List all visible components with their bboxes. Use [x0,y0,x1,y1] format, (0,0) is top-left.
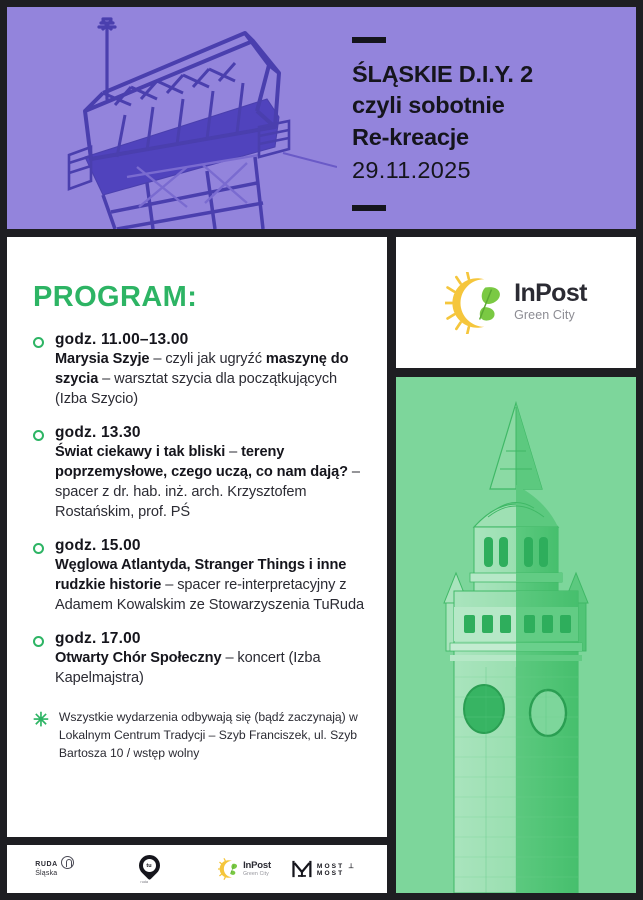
footnote-text: Wszystkie wydarzenia odbywają się (bądź … [59,709,367,763]
entry-description: Świat ciekawy i tak bliski – tereny popr… [55,443,367,523]
bullet-circle-icon [33,430,44,441]
logo-most-most: MOST ⊥ MOST [292,845,387,893]
headframe-photo [7,7,337,229]
title-line-2: czyli sobotnie [352,92,505,118]
title-line-3: Re-kreacje [352,124,469,150]
inpost-subtitle: Green City [514,306,587,325]
header-banner: ŚLĄSKIE D.I.Y. 2 czyli sobotnie Re-kreac… [7,7,636,229]
ruda-line-1: RUDA [35,860,58,869]
bullet-circle-icon [33,337,44,348]
inpost-sun-leaf-icon [218,858,240,880]
event-date: 29.11.2025 [352,153,636,186]
program-entry: godz. 15.00 Węglowa Atlantyda, Stranger … [33,537,367,616]
logo-turuda: tu ruda [102,845,197,893]
logo-inpost-small: InPost Green City [197,845,292,893]
entry-time: godz. 13.30 [55,424,367,442]
title-line-1: ŚLĄSKIE D.I.Y. 2 [352,61,533,87]
program-panel: PROGRAM: godz. 11.00–13.00 Marysia Szyje… [7,237,387,837]
entry-description: Otwarty Chór Społeczny – koncert (Izba K… [55,649,367,689]
rule-bottom-icon [352,205,386,211]
sponsor-logo-bar: RUDA Śląska tu ruda [7,845,387,893]
pin-caption: ruda [141,880,149,884]
inpost-sun-leaf-icon [445,272,507,334]
entry-time: godz. 15.00 [55,537,367,555]
page-title: ŚLĄSKIE D.I.Y. 2 czyli sobotnie Re-kreac… [352,59,636,186]
program-entry: godz. 11.00–13.00 Marysia Szyje – czyli … [33,331,367,410]
inpost-small-name: InPost [243,861,271,871]
entry-rest: – warsztat szycia dla początkujących (Iz… [55,371,337,407]
inpost-name: InPost [514,281,587,306]
entry-description: Węglowa Atlantyda, Stranger Things i inn… [55,556,367,616]
entry-bold-1: Marysia Szyje [55,351,149,367]
entry-mid-1: – [225,444,241,460]
bullet-circle-icon [33,543,44,554]
bullet-circle-icon [33,636,44,647]
program-entry: godz. 17.00 Otwarty Chór Społeczny – kon… [33,630,367,689]
most-most-text: MOST ⊥ MOST [317,862,387,877]
entry-time: godz. 17.00 [55,630,367,648]
inpost-small-sub: Green City [243,871,271,878]
footnote: ✳ Wszystkie wydarzenia odbywają się (bąd… [33,709,367,763]
entry-mid-1: – czyli jak ugryźć [149,351,265,367]
poster-root: ŚLĄSKIE D.I.Y. 2 czyli sobotnie Re-kreac… [0,0,643,900]
most-monogram-icon [292,860,312,878]
logo-ruda-slaska: RUDA Śląska [7,845,102,893]
entry-bold-1: Świat ciekawy i tak bliski [55,444,225,460]
entry-description: Marysia Szyje – czyli jak ugryźć maszynę… [55,350,367,410]
rule-top-icon [352,37,386,43]
water-tower-photo [396,377,636,893]
ruda-line-2: Śląska [35,869,58,878]
program-entry: godz. 13.30 Świat ciekawy i tak bliski –… [33,424,367,523]
entry-time: godz. 11.00–13.00 [55,331,367,349]
asterisk-icon: ✳ [33,711,49,763]
entry-bold-1: Otwarty Chór Społeczny [55,650,221,666]
ruda-emblem-icon [61,856,74,869]
pin-label: tu [143,859,156,872]
inpost-green-city-panel: InPost Green City [396,237,636,368]
program-heading: PROGRAM: [33,281,367,314]
header-text-block: ŚLĄSKIE D.I.Y. 2 czyli sobotnie Re-kreac… [352,7,636,229]
